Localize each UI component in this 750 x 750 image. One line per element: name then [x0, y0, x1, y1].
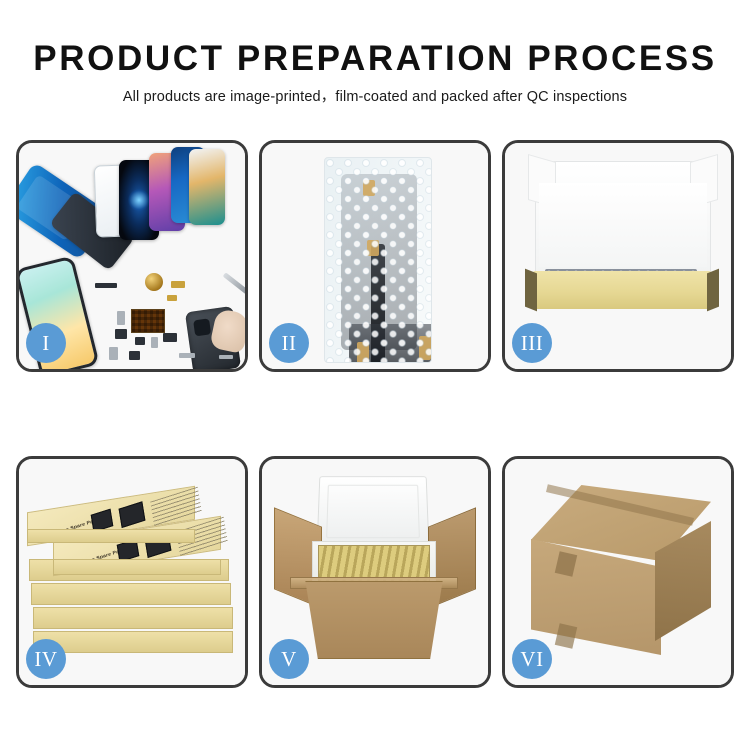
stack-box-4 [31, 583, 231, 605]
step-badge-3: III [512, 323, 552, 363]
page-title: PRODUCT PREPARATION PROCESS [0, 38, 750, 80]
carton-tape-lower [555, 623, 577, 648]
part-dark-4 [129, 351, 140, 360]
process-step-3: III [502, 140, 734, 372]
process-step-4: Mobile Phone Spare Parts Mobile Phone Sp… [16, 456, 248, 688]
foam-lid [317, 476, 430, 547]
box-window-1b [119, 501, 146, 528]
step-badge-6: VI [512, 639, 552, 679]
part-silver-4 [179, 353, 195, 358]
box-front-panel [533, 271, 711, 309]
part-dark-1 [115, 329, 127, 339]
process-step-5: V [259, 456, 491, 688]
part-dark-3 [163, 333, 177, 342]
screwdriver-tool [223, 272, 245, 294]
gold-coil-part [145, 273, 163, 291]
process-step-6: VI [502, 456, 734, 688]
part-gold-2 [167, 295, 177, 301]
part-strip-1 [95, 283, 117, 288]
process-step-1: I [16, 140, 248, 372]
chip-grid-part [131, 309, 165, 333]
teal-gold-phone [189, 149, 225, 225]
step-badge-4: IV [26, 639, 66, 679]
page-subtitle: All products are image-printed，film-coat… [0, 87, 750, 107]
foam-sheet [539, 183, 707, 267]
bubble-wrap-bag [324, 157, 432, 363]
part-silver-3 [109, 347, 118, 360]
disassembled-parts [93, 271, 243, 369]
process-step-2: II [259, 140, 491, 372]
product-preparation-infographic: PRODUCT PREPARATION PROCESS All products… [0, 0, 750, 750]
step-badge-2: II [269, 323, 309, 363]
step-badge-5: V [269, 639, 309, 679]
step-badge-1: I [26, 323, 66, 363]
stack-box-1-body [27, 529, 195, 543]
stack-box-2-body [53, 559, 221, 575]
part-silver-1 [117, 311, 125, 325]
part-dark-2 [135, 337, 145, 345]
stack-box-5 [33, 607, 233, 629]
process-steps-grid: I II [16, 140, 734, 688]
carton-body [296, 581, 452, 659]
part-silver-5 [219, 355, 233, 359]
part-gold-1 [171, 281, 185, 288]
bubble-texture [325, 158, 431, 362]
part-silver-2 [151, 337, 158, 348]
header: PRODUCT PREPARATION PROCESS All products… [0, 38, 750, 107]
